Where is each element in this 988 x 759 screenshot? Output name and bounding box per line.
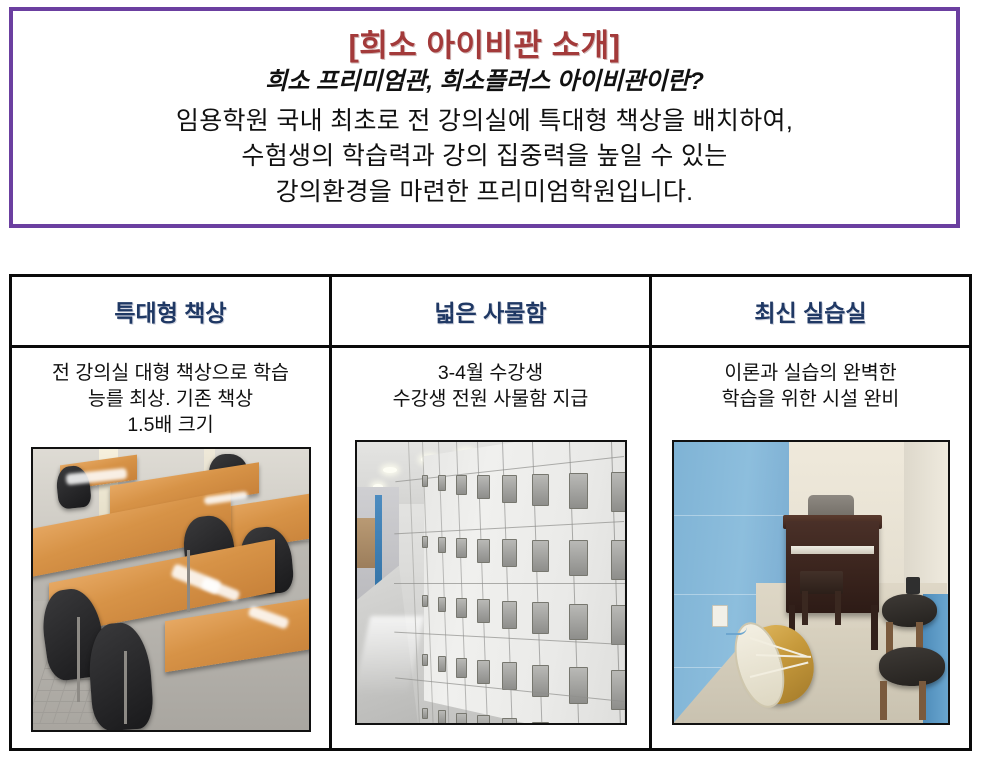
feature-description-practice-room: 이론과 실습의 완벽한 학습을 위한 시설 완비	[652, 348, 969, 440]
feature-header-desks: 특대형 책상	[12, 277, 329, 348]
intro-panel: [희소 아이비관 소개] 희소 프리미엄관, 희소플러스 아이비관이란? 임용학…	[9, 7, 960, 228]
feature-table: 특대형 책상 전 강의실 대형 책상으로 학습 능를 최상. 기존 책상 1.5…	[9, 274, 972, 751]
feature-photo-wrap-lockers	[332, 440, 649, 748]
lockers-corridor-photo	[355, 440, 627, 725]
practice-room-photo	[672, 440, 950, 725]
feature-description-lockers: 3-4월 수강생 수강생 전원 사물함 지급	[332, 348, 649, 440]
feature-description-desks: 전 강의실 대형 책상으로 학습 능를 최상. 기존 책상 1.5배 크기	[12, 348, 329, 447]
feature-column-lockers: 넓은 사물함 3-4월 수강생 수강생 전원 사물함 지급	[332, 277, 652, 748]
intro-line-2: 수험생의 학습력과 강의 집중력을 높일 수 있는	[13, 140, 956, 174]
page-subtitle: 희소 프리미엄관, 희소플러스 아이비관이란?	[13, 68, 956, 96]
intro-line-3: 강의환경을 마련한 프리미엄학원입니다.	[13, 176, 956, 210]
feature-photo-wrap-desks	[12, 447, 329, 748]
feature-column-practice-room: 최신 실습실 이론과 실습의 완벽한 학습을 위한 시설 완비	[652, 277, 969, 748]
intro-line-1: 임용학원 국내 최초로 전 강의실에 특대형 책상을 배치하여,	[13, 105, 956, 139]
page-title: [희소 아이비관 소개]	[13, 29, 956, 63]
classroom-desks-photo	[31, 447, 311, 732]
feature-header-lockers: 넓은 사물함	[332, 277, 649, 348]
feature-header-practice-room: 최신 실습실	[652, 277, 969, 348]
intro-body: 임용학원 국내 최초로 전 강의실에 특대형 책상을 배치하여, 수험생의 학습…	[13, 105, 956, 210]
feature-column-desks: 특대형 책상 전 강의실 대형 책상으로 학습 능를 최상. 기존 책상 1.5…	[12, 277, 332, 748]
feature-photo-wrap-practice-room	[652, 440, 969, 748]
